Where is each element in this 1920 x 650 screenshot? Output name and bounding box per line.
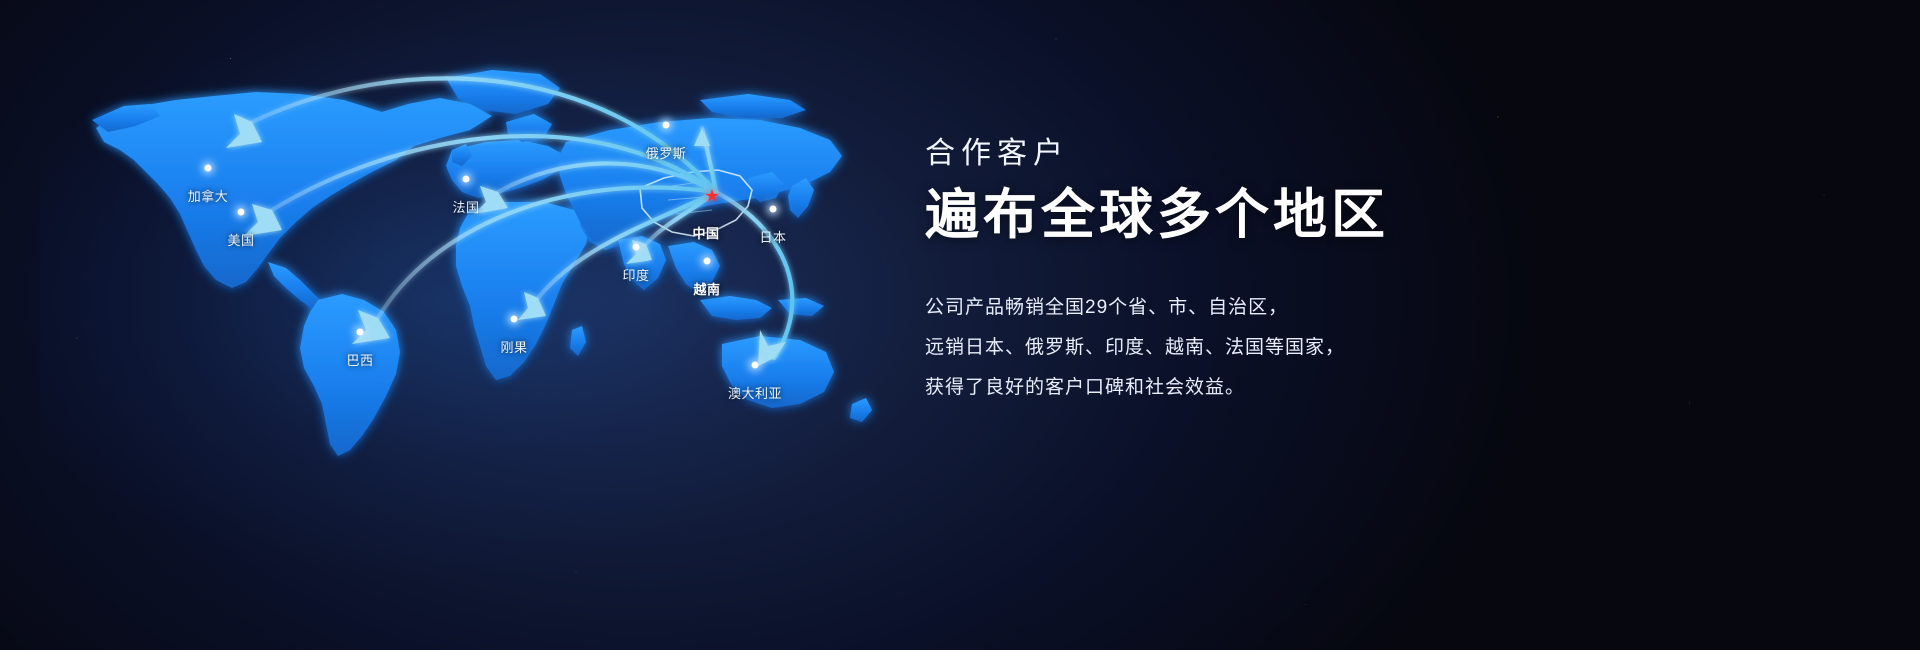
map-label-france: 法国 — [452, 197, 479, 216]
banner-copy: 合作客户 遍布全球多个地区 公司产品畅销全国29个省、市、自治区， 远销日本、俄… — [925, 128, 1825, 408]
description-line-3: 获得了良好的客户口碑和社会效益。 — [925, 368, 1825, 408]
map-dot-canada — [205, 165, 212, 172]
map-dot-usa — [238, 209, 245, 216]
map-label-congo: 刚果 — [500, 337, 527, 356]
map-label-canada: 加拿大 — [188, 186, 229, 205]
map-label-usa: 美国 — [227, 230, 254, 249]
map-label-vietnam: 越南 — [693, 279, 720, 298]
description-line-1: 公司产品畅销全国29个省、市、自治区， — [925, 288, 1825, 328]
map-label-brazil: 巴西 — [346, 350, 373, 369]
map-label-india: 印度 — [622, 265, 649, 284]
global-clients-banner: ★ 加拿大美国巴西法国俄罗斯中国日本印度越南刚果澳大利亚 合作客户 遍布全球多个… — [0, 0, 1920, 650]
map-label-australia: 澳大利亚 — [728, 383, 782, 402]
map-dot-brazil — [357, 329, 364, 336]
map-dot-india — [633, 244, 640, 251]
map-dot-australia — [752, 362, 759, 369]
description-line-2: 远销日本、俄罗斯、印度、越南、法国等国家， — [925, 328, 1825, 368]
description-paragraph: 公司产品畅销全国29个省、市、自治区， 远销日本、俄罗斯、印度、越南、法国等国家… — [925, 288, 1825, 408]
page-title: 遍布全球多个地区 — [925, 186, 1825, 244]
map-label-russia: 俄罗斯 — [646, 143, 687, 162]
map-label-japan: 日本 — [759, 227, 786, 246]
map-dot-france — [463, 176, 470, 183]
world-map: ★ — [0, 0, 960, 650]
map-dot-congo — [511, 316, 518, 323]
china-origin-star-icon: ★ — [704, 188, 719, 205]
map-dot-russia — [663, 122, 670, 129]
map-label-china: 中国 — [692, 223, 719, 242]
map-dot-japan — [770, 206, 777, 213]
eyebrow-text: 合作客户 — [925, 128, 1825, 172]
map-dot-vietnam — [704, 258, 711, 265]
